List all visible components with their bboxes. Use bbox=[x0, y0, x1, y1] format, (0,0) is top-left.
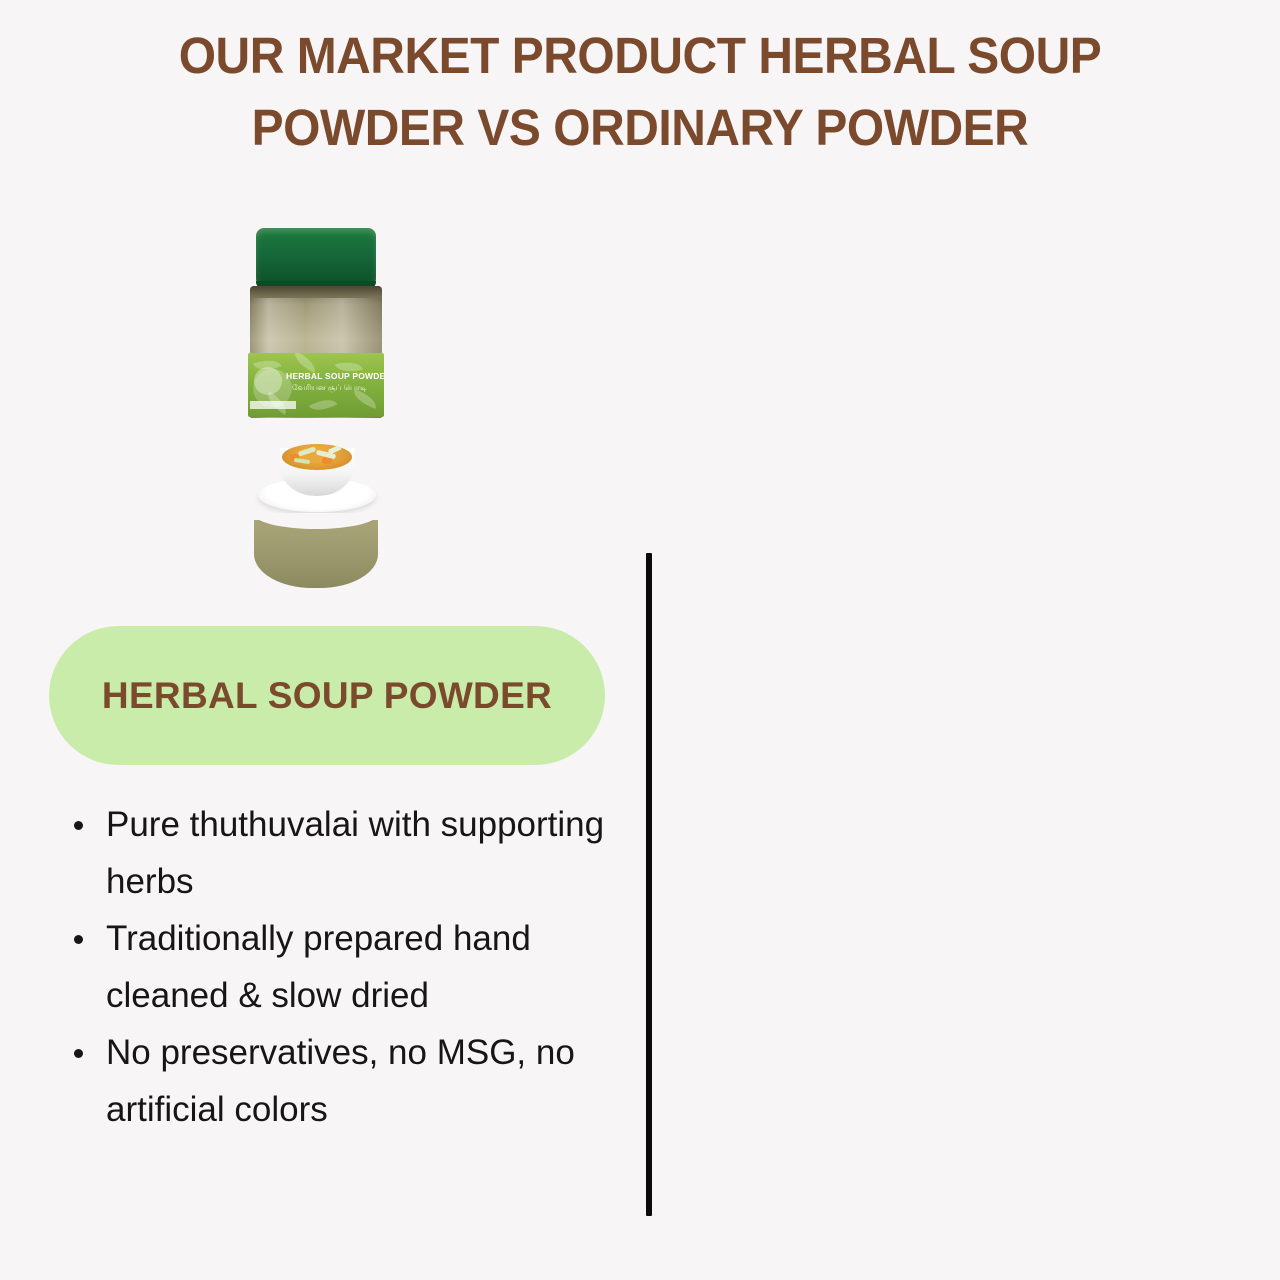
herbal-soup-powder-product-image: HERBAL SOUP POWDER வேரியன சூப் பொடி bbox=[248, 228, 384, 590]
jar-cap-icon bbox=[256, 228, 376, 284]
heading-herbal-soup-powder: HERBAL SOUP POWDER bbox=[49, 626, 605, 765]
list-item: No preservatives, no MSG, no artificial … bbox=[62, 1024, 642, 1138]
vegetable-piece bbox=[328, 444, 343, 454]
panel-ordinary-powder: ORDINARY POWDER May be mixed with filler… bbox=[640, 0, 1280, 1280]
herbal-powder-mound bbox=[254, 520, 378, 588]
list-item: Traditionally prepared hand cleaned & sl… bbox=[62, 910, 642, 1024]
soup-liquid bbox=[282, 444, 352, 470]
jar-label-strip bbox=[250, 401, 296, 409]
list-item: Pure thuthuvalai with supporting herbs bbox=[62, 796, 642, 910]
vertical-divider bbox=[646, 553, 652, 1216]
jar-label-tamil-text: வேரியன சூப் பொடி bbox=[292, 383, 384, 393]
jar-label-english-text: HERBAL SOUP POWDER bbox=[286, 371, 384, 381]
leaf-icon bbox=[309, 394, 338, 417]
jar-label: HERBAL SOUP POWDER வேரியன சூப் பொடி bbox=[248, 353, 384, 417]
leaf-icon bbox=[291, 353, 320, 373]
vegetable-piece bbox=[298, 446, 317, 456]
comparison-panels: HERBAL SOUP POWDER வேரியன சூப் பொடி bbox=[0, 0, 1280, 1280]
vegetable-piece bbox=[294, 458, 310, 464]
panel-herbal-soup-powder: HERBAL SOUP POWDER வேரியன சூப் பொடி bbox=[0, 0, 640, 1280]
brand-logo-icon bbox=[254, 367, 282, 395]
soup-bowl-image bbox=[258, 434, 376, 512]
feature-list-herbal: Pure thuthuvalai with supporting herbs T… bbox=[62, 796, 642, 1138]
